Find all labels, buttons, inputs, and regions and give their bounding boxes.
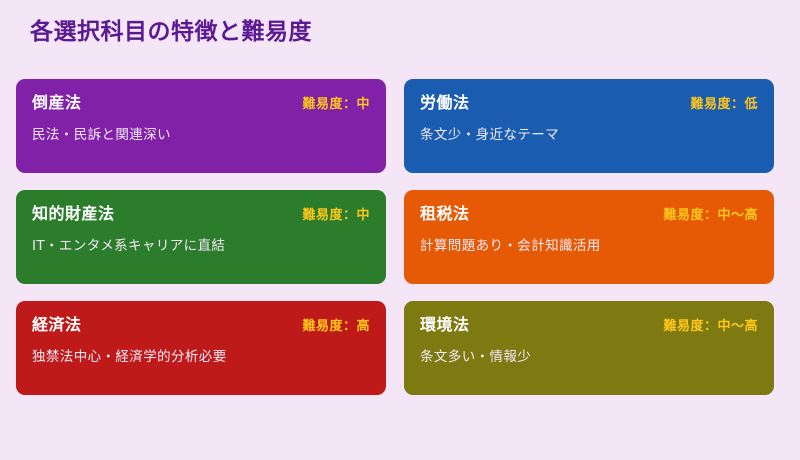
subject-name: 租税法 <box>420 204 470 223</box>
card-header: 労働法 難易度：低 <box>420 93 758 113</box>
subject-description: 条文多い・情報少 <box>420 348 758 367</box>
subject-card-rodoho[interactable]: 労働法 難易度：低 条文少・身近なテーマ <box>404 79 774 173</box>
subject-description: 計算問題あり・会計知識活用 <box>420 237 758 256</box>
subject-card-grid: 倒産法 難易度：中 民法・民訴と関連深い 労働法 難易度：低 条文少・身近なテー… <box>16 79 788 395</box>
card-header: 経済法 難易度：高 <box>32 315 370 335</box>
subject-name: 労働法 <box>420 93 470 112</box>
subject-card-tosanho[interactable]: 倒産法 難易度：中 民法・民訴と関連深い <box>16 79 386 173</box>
difficulty-badge: 難易度：中〜高 <box>663 208 758 224</box>
card-header: 倒産法 難易度：中 <box>32 93 370 113</box>
infographic-page: 各選択科目の特徴と難易度 倒産法 難易度：中 民法・民訴と関連深い 労働法 難易… <box>0 0 800 460</box>
page-title: 各選択科目の特徴と難易度 <box>30 18 312 48</box>
subject-description: 独禁法中心・経済学的分析必要 <box>32 348 370 367</box>
subject-name: 倒産法 <box>32 93 82 112</box>
card-header: 知的財産法 難易度：中 <box>32 204 370 224</box>
subject-card-chitekizaisanho[interactable]: 知的財産法 難易度：中 IT・エンタメ系キャリアに直結 <box>16 190 386 284</box>
subject-description: 条文少・身近なテーマ <box>420 126 758 145</box>
subject-card-keizaiho[interactable]: 経済法 難易度：高 独禁法中心・経済学的分析必要 <box>16 301 386 395</box>
subject-name: 知的財産法 <box>32 204 115 223</box>
subject-description: 民法・民訴と関連深い <box>32 126 370 145</box>
card-header: 環境法 難易度：中〜高 <box>420 315 758 335</box>
subject-name: 経済法 <box>32 315 82 334</box>
difficulty-badge: 難易度：中 <box>302 208 370 224</box>
difficulty-badge: 難易度：中 <box>302 97 370 113</box>
subject-card-kankyoho[interactable]: 環境法 難易度：中〜高 条文多い・情報少 <box>404 301 774 395</box>
subject-card-sozeiho[interactable]: 租税法 難易度：中〜高 計算問題あり・会計知識活用 <box>404 190 774 284</box>
subject-description: IT・エンタメ系キャリアに直結 <box>32 237 370 256</box>
difficulty-badge: 難易度：低 <box>690 97 758 113</box>
difficulty-badge: 難易度：高 <box>302 319 370 335</box>
difficulty-badge: 難易度：中〜高 <box>663 319 758 335</box>
subject-name: 環境法 <box>420 315 470 334</box>
card-header: 租税法 難易度：中〜高 <box>420 204 758 224</box>
